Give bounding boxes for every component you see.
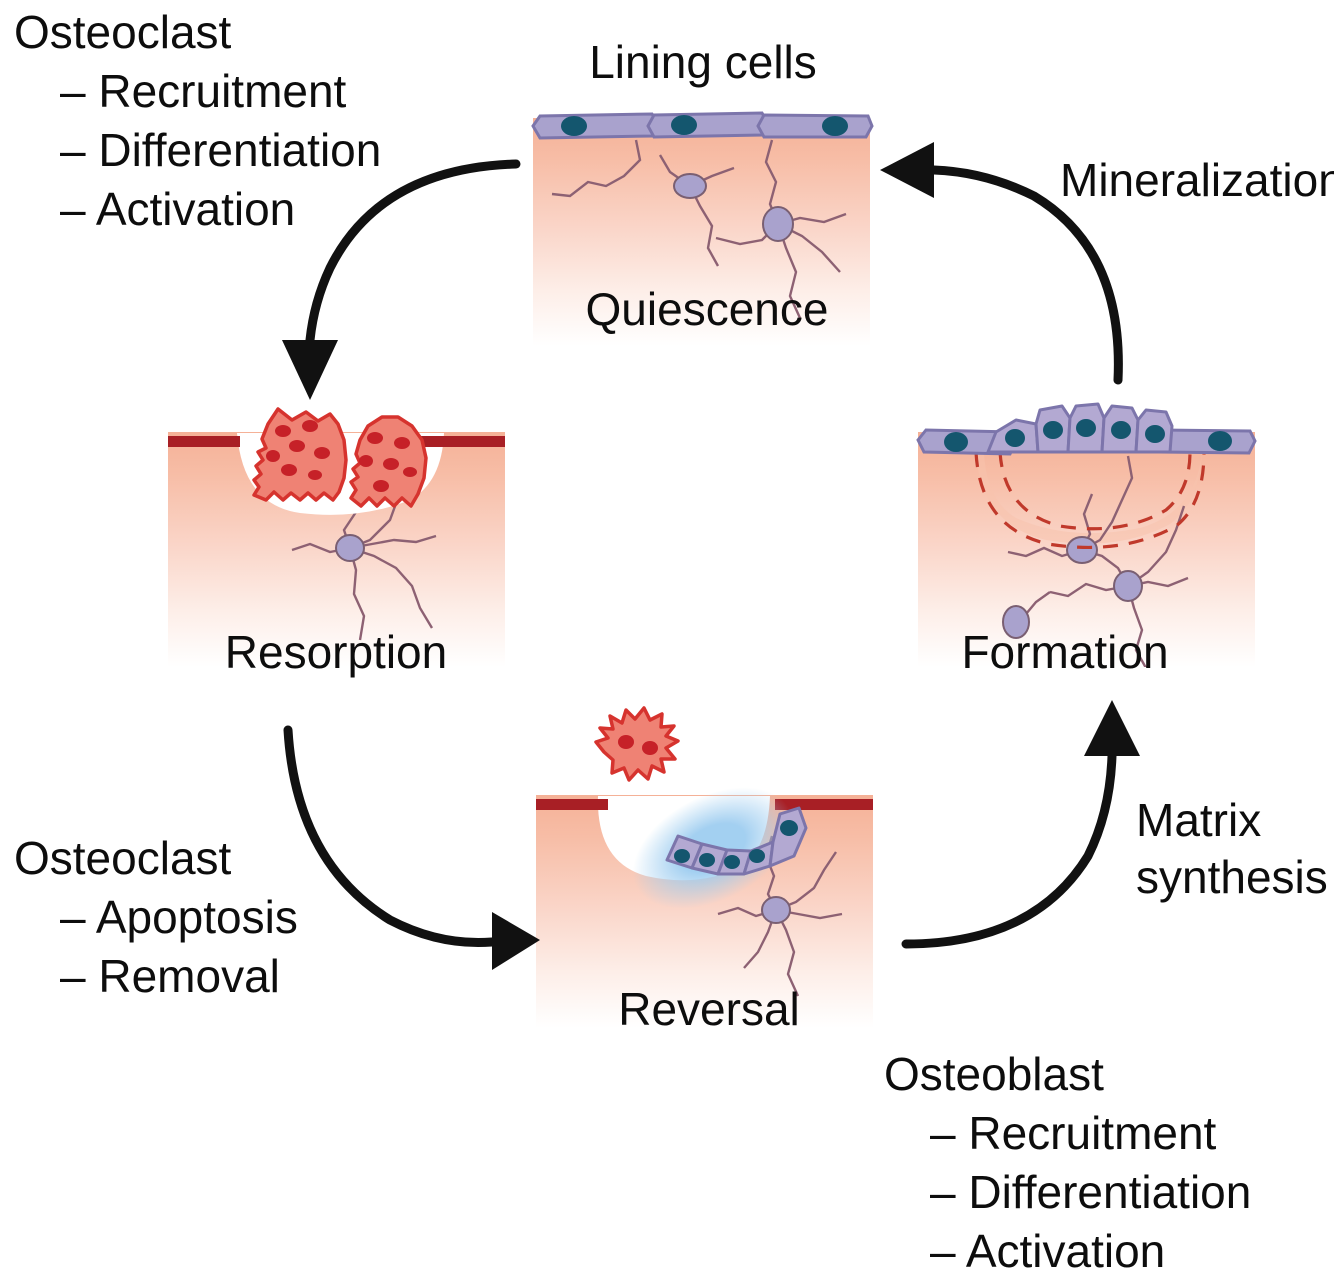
panel-resorption: Resorption — [168, 409, 505, 678]
bone-surface-line-right — [775, 799, 873, 810]
bone-surface-line-left — [168, 436, 240, 447]
panel-quiescence: Lining cells Quiescence — [533, 36, 872, 346]
osteoclast-nucleus — [618, 735, 634, 749]
osteocyte — [674, 174, 706, 198]
annotation-osteoclast-activation: Osteoclast – Recruitment – Differentiati… — [14, 6, 381, 235]
annotation-osteoclast-removal: Osteoclast – Apoptosis – Removal — [14, 832, 298, 1002]
annotation-heading: Osteoblast — [884, 1048, 1104, 1100]
osteoclast-1 — [254, 409, 346, 500]
nucleus — [674, 849, 690, 863]
osteocyte — [762, 897, 790, 923]
osteoclast-nucleus — [266, 450, 280, 462]
apoptotic-osteoclast — [596, 708, 678, 780]
arrow-label-matrix-synthesis-line2: synthesis — [1136, 851, 1328, 903]
annotation-item: – Differentiation — [930, 1166, 1251, 1218]
osteoclast-nucleus — [403, 467, 417, 477]
nucleus — [699, 853, 715, 867]
osteoclast-2 — [351, 417, 426, 506]
arrow-quiescence-to-resorption — [282, 164, 516, 400]
annotation-item: – Activation — [60, 183, 295, 235]
osteoclast-nucleus — [383, 458, 399, 470]
nucleus — [1208, 431, 1232, 451]
arrow-resorption-to-reversal — [288, 730, 540, 970]
quiescence-top-label: Lining cells — [589, 36, 817, 88]
osteoclast-nucleus — [373, 480, 389, 492]
annotation-osteoblast-activation: Osteoblast – Recruitment – Differentiati… — [884, 1048, 1251, 1277]
nucleus — [944, 432, 968, 452]
nucleus — [1005, 429, 1025, 447]
osteocyte — [1067, 537, 1097, 563]
nucleus — [1111, 421, 1131, 439]
nucleus — [749, 849, 765, 863]
osteocyte — [763, 207, 793, 241]
annotation-heading: Osteoclast — [14, 832, 232, 884]
arrow-label-matrix-synthesis-line1: Matrix — [1136, 794, 1261, 846]
resorption-stage-label: Resorption — [225, 626, 447, 678]
osteoclast-nucleus — [275, 425, 291, 437]
annotation-item: – Recruitment — [930, 1107, 1217, 1159]
nucleus — [724, 855, 740, 869]
annotation-item: – Removal — [60, 950, 280, 1002]
osteoclast-nucleus — [367, 432, 383, 444]
osteoblasts-formation — [988, 404, 1172, 452]
bone-surface-line-left — [536, 799, 608, 810]
nucleus — [671, 115, 697, 135]
arrow-reversal-to-formation — [906, 700, 1140, 944]
osteoclast-nucleus — [289, 440, 305, 452]
osteocyte — [336, 535, 364, 561]
osteoclast-nucleus — [314, 447, 330, 459]
quiescence-stage-label: Quiescence — [586, 283, 829, 335]
nucleus — [1076, 419, 1096, 437]
bone-remodeling-cycle-diagram: Lining cells Quiescence — [0, 0, 1334, 1280]
osteoclast-nucleus — [302, 420, 318, 432]
lining-cells-quiescence — [533, 113, 872, 138]
panel-formation: Formation — [918, 404, 1255, 678]
annotation-item: – Recruitment — [60, 65, 347, 117]
annotation-item: – Differentiation — [60, 124, 381, 176]
annotation-item: – Apoptosis — [60, 891, 298, 943]
osteoclast-nucleus — [642, 741, 658, 755]
osteoclast-nucleus — [359, 455, 373, 467]
figure-canvas: Lining cells Quiescence — [0, 0, 1334, 1280]
osteocyte — [1114, 571, 1142, 601]
annotation-heading: Osteoclast — [14, 6, 232, 58]
panel-reversal: Reversal — [536, 708, 873, 1035]
nucleus — [1145, 425, 1165, 443]
nucleus — [780, 820, 798, 836]
osteoclast-nucleus — [281, 464, 297, 476]
nucleus — [561, 116, 587, 136]
reversal-stage-label: Reversal — [618, 983, 800, 1035]
arrow-label-mineralization: Mineralization — [1060, 154, 1334, 206]
osteoclast-nucleus — [394, 437, 410, 449]
formation-stage-label: Formation — [961, 626, 1168, 678]
osteoclast-nucleus — [308, 470, 322, 480]
annotation-item: – Activation — [930, 1225, 1165, 1277]
nucleus — [822, 116, 848, 136]
nucleus — [1043, 421, 1063, 439]
